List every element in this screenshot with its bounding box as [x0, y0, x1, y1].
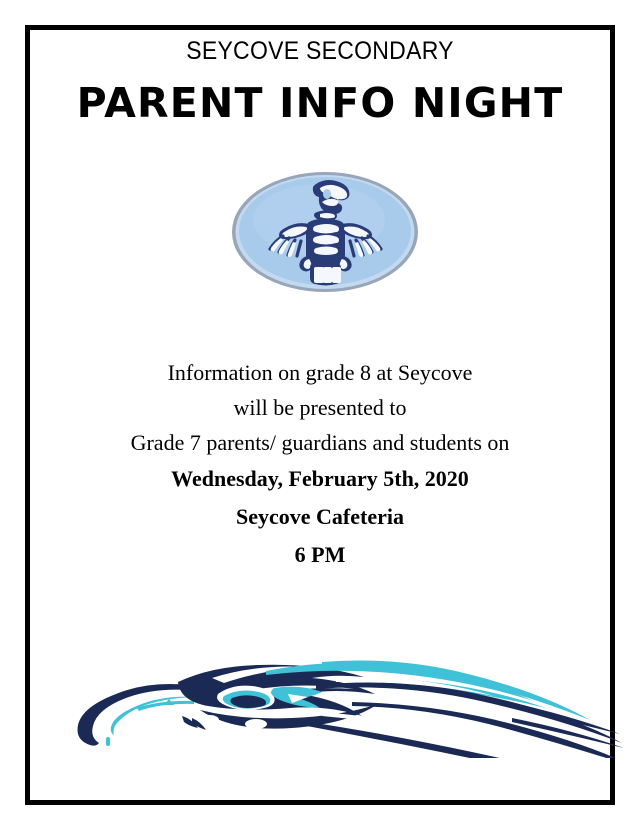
event-location: Seycove Cafeteria	[30, 498, 610, 536]
thunderbird-crest-icon	[223, 168, 427, 296]
eagle-mascot-graphic	[60, 638, 640, 758]
school-crest-logo	[223, 168, 427, 296]
school-name: SEYCOVE SECONDARY	[53, 38, 587, 66]
event-time: 6 PM	[30, 536, 610, 574]
body-text-block: Information on grade 8 at Seycove will b…	[30, 355, 610, 574]
poster-canvas: SEYCOVE SECONDARY PARENT INFO NIGHT	[0, 0, 640, 830]
eagle-head-icon	[60, 638, 640, 758]
body-line-info: Information on grade 8 at Seycove	[30, 355, 610, 390]
body-line-audience: Grade 7 parents/ guardians and students …	[30, 425, 610, 460]
event-date: Wednesday, February 5th, 2020	[30, 460, 610, 498]
header-block: SEYCOVE SECONDARY PARENT INFO NIGHT	[30, 38, 610, 125]
page-title: PARENT INFO NIGHT	[30, 82, 610, 125]
poster-frame: SEYCOVE SECONDARY PARENT INFO NIGHT	[25, 25, 615, 805]
body-line-presented: will be presented to	[30, 390, 610, 425]
